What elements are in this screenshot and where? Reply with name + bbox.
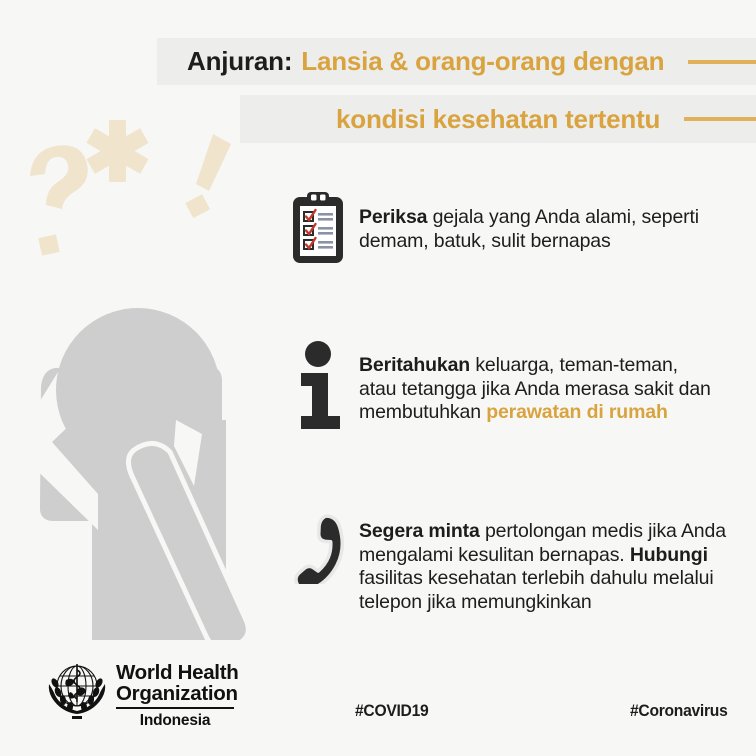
hashtag-covid19: #COVID19	[355, 701, 428, 721]
who-emblem-icon	[46, 658, 108, 720]
advice-1-text: Periksa gejala yang Anda alami, seperti …	[349, 190, 717, 253]
exclamation-mark-symbol	[185, 134, 231, 218]
advice-3-lead: Segera minta	[359, 520, 480, 542]
clipboard-checklist-icon	[287, 190, 349, 266]
advice-item-check-symptoms: Periksa gejala yang Anda alami, seperti …	[287, 190, 717, 266]
header-rule-line2	[684, 117, 756, 121]
question-mark-symbol	[30, 145, 88, 255]
header-rule-line1	[688, 60, 756, 64]
infographic-poster: Anjuran: Lansia & orang-orang dengan kon…	[0, 0, 756, 756]
asterisk-symbol	[86, 120, 148, 182]
advice-2-highlight: perawatan di rumah	[486, 401, 668, 423]
thinking-person-illustration	[0, 120, 300, 640]
advice-1-lead: Periksa	[359, 206, 427, 228]
who-wordmark: World Health Organization Indonesia	[116, 658, 238, 730]
header-line2-text: kondisi kesehatan tertentu	[336, 104, 660, 135]
header-bar-line1: Anjuran: Lansia & orang-orang dengan	[157, 38, 756, 85]
who-line-2: Organization	[116, 683, 238, 704]
telephone-handset-icon	[287, 512, 349, 584]
advice-2-text: Beritahukan keluarga, teman-teman, atau …	[349, 340, 717, 425]
who-logo: World Health Organization Indonesia	[46, 658, 238, 730]
who-divider	[116, 707, 234, 709]
who-line-1: World Health	[116, 662, 238, 683]
header-label: Anjuran:	[187, 46, 292, 77]
hashtag-coronavirus: #Coronavirus	[630, 701, 728, 721]
advice-3-body2: fasilitas kesehatan terlebih dahulu mela…	[359, 567, 714, 613]
advice-3-lead2: Hubungi	[630, 544, 708, 566]
header-bar-line2: kondisi kesehatan tertentu	[240, 95, 756, 143]
advice-2-lead: Beritahukan	[359, 354, 470, 376]
advice-item-seek-care: Segera minta pertolongan medis jika Anda…	[287, 512, 727, 614]
advice-item-inform-others: Beritahukan keluarga, teman-teman, atau …	[287, 340, 717, 430]
who-country: Indonesia	[116, 712, 234, 730]
header-line1-text: Lansia & orang-orang dengan	[301, 46, 664, 77]
advice-3-text: Segera minta pertolongan medis jika Anda…	[349, 512, 727, 614]
information-i-icon	[287, 340, 349, 430]
